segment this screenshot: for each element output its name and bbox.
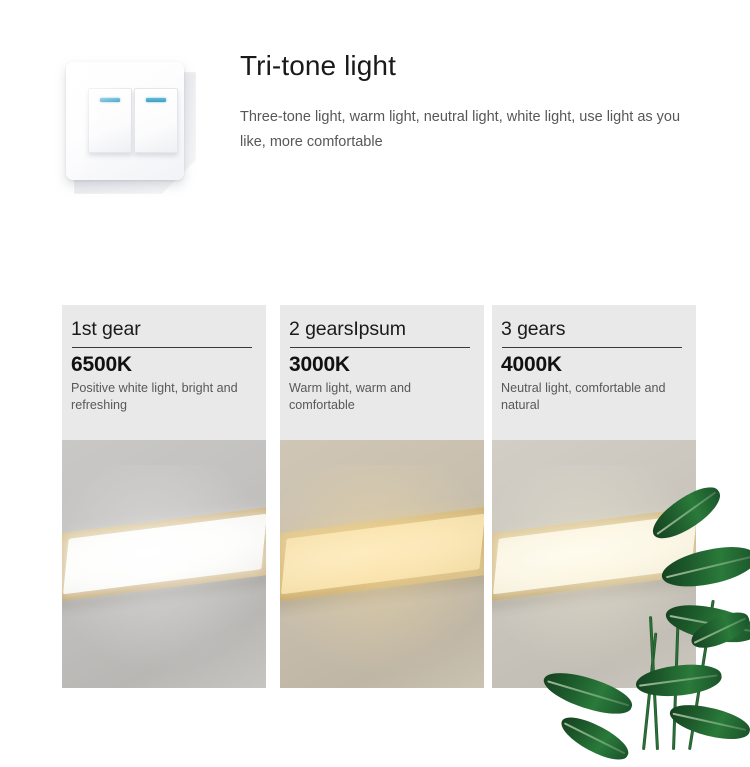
- switch-rocker-left: [88, 88, 132, 153]
- gear-panel-1: 1st gear 6500K Positive white light, bri…: [62, 305, 266, 690]
- divider: [72, 347, 252, 348]
- plant-leaf: [667, 698, 750, 745]
- lamp-photo-1: [62, 440, 266, 688]
- kelvin-value: 4000K: [501, 353, 686, 377]
- led-indicator-icon: [100, 98, 120, 102]
- gear-description: Neutral light, comfortable and natural: [501, 380, 686, 413]
- gear-card-1: 1st gear 6500K Positive white light, bri…: [62, 305, 266, 440]
- gear-label: 2 gearsIpsum: [289, 319, 474, 340]
- gear-description: Positive white light, bright and refresh…: [71, 380, 256, 413]
- plant-leaf: [658, 540, 750, 593]
- switch-rockers: [88, 88, 178, 153]
- gear-panel-2: 2 gearsIpsum 3000K Warm light, warm and …: [280, 305, 484, 690]
- gear-card-3: 3 gears 4000K Neutral light, comfortable…: [492, 305, 696, 440]
- switch-faceplate: [66, 62, 184, 180]
- lamp-photo-2: [280, 440, 484, 688]
- gear-description: Warm light, warm and comfortable: [289, 380, 474, 413]
- gear-card-2: 2 gearsIpsum 3000K Warm light, warm and …: [280, 305, 484, 440]
- wall-switch-icon: [58, 52, 210, 200]
- product-feature-image: Tri-tone light Three-tone light, warm li…: [0, 0, 750, 750]
- led-indicator-icon: [146, 98, 166, 102]
- kelvin-value: 3000K: [289, 353, 474, 377]
- page-title: Tri-tone light: [240, 50, 396, 82]
- divider: [290, 347, 470, 348]
- plant-decoration: [596, 512, 750, 750]
- gear-label: 3 gears: [501, 319, 686, 340]
- kelvin-value: 6500K: [71, 353, 256, 377]
- divider: [502, 347, 682, 348]
- gear-label: 1st gear: [71, 319, 256, 340]
- switch-rocker-right: [134, 88, 178, 153]
- hero-section: Tri-tone light Three-tone light, warm li…: [0, 0, 750, 230]
- page-subtitle: Three-tone light, warm light, neutral li…: [240, 105, 690, 155]
- plant-leaf: [634, 661, 723, 700]
